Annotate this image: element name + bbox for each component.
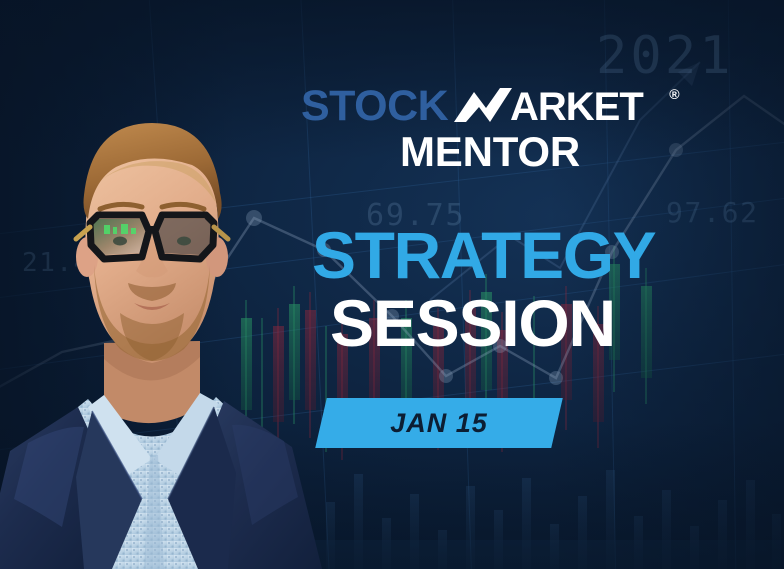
- brand-logo-stock: STOCK: [301, 86, 448, 127]
- date-badge-label: JAN 15: [321, 398, 557, 448]
- svg-text:ARKET: ARKET: [510, 86, 643, 129]
- brand-logo-line1: STOCK ARKET ®: [300, 86, 680, 130]
- date-badge: JAN 15: [321, 398, 557, 448]
- brand-logo-trademark-icon: ®: [669, 87, 679, 101]
- headline-line-strategy: STRATEGY: [312, 224, 692, 286]
- presenter-photo: [0, 107, 322, 569]
- brand-logo-mentor: MENTOR: [300, 132, 680, 172]
- eye-right: [177, 237, 191, 246]
- headline-block: STRATEGY SESSION: [312, 224, 692, 354]
- brand-logo: STOCK ARKET ® MENTOR: [300, 86, 680, 172]
- brand-logo-market: ARKET: [452, 86, 668, 130]
- background-number-year: 2021: [596, 26, 734, 86]
- eye-left: [113, 237, 127, 246]
- headline-line-session: SESSION: [330, 292, 692, 354]
- promo-graphic: 2021 69.75 97.62 21.4: [0, 0, 784, 569]
